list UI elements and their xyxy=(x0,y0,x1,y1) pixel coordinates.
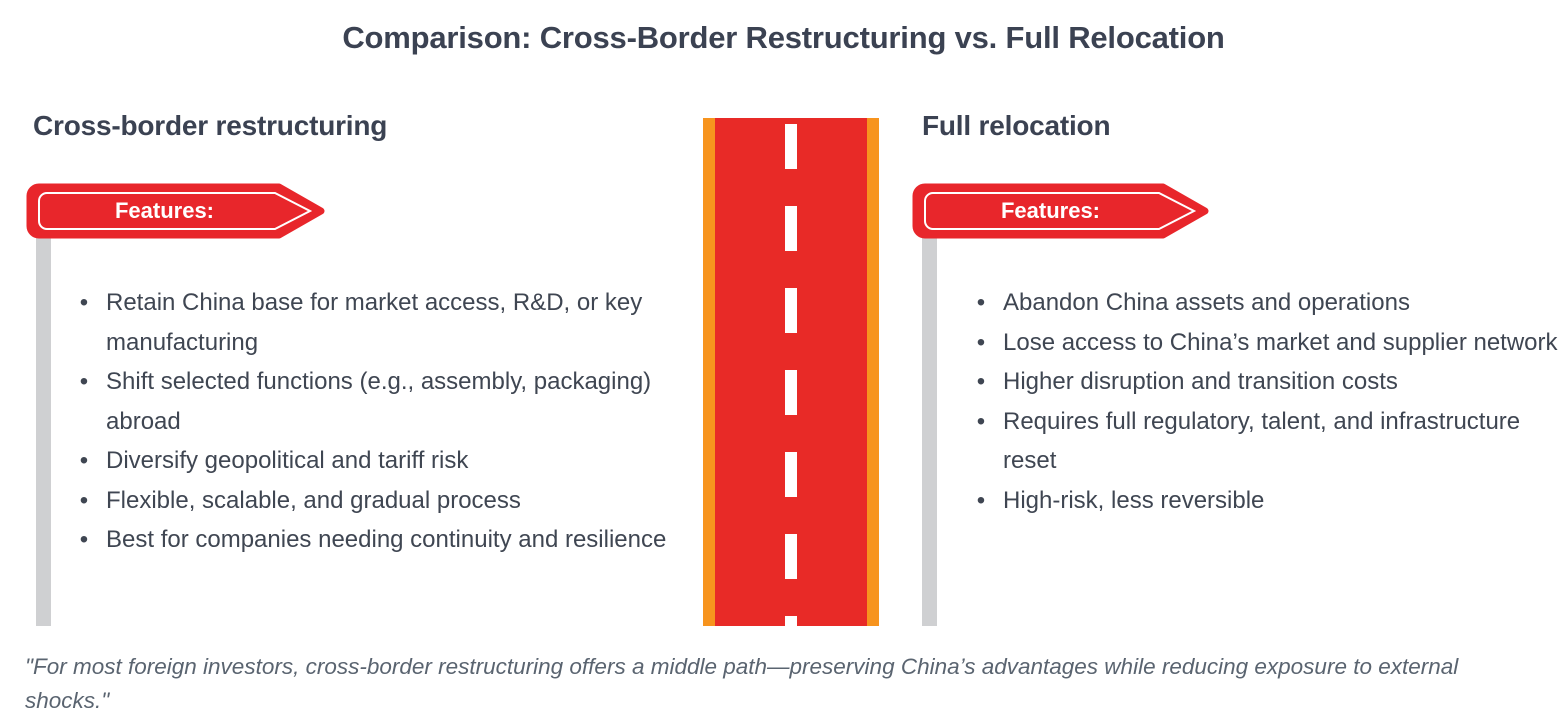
bullet-dot-icon: • xyxy=(973,362,989,402)
bullet-dot-icon: • xyxy=(76,441,92,481)
road-center-line xyxy=(785,118,797,626)
bullet-dot-icon: • xyxy=(973,481,989,521)
list-item: • Requires full regulatory, talent, and … xyxy=(965,402,1560,481)
column-heading-left: Cross-border restructuring xyxy=(33,110,387,142)
road-dash xyxy=(785,206,797,251)
bullet-dot-icon: • xyxy=(973,402,989,442)
list-item-text: Higher disruption and transition costs xyxy=(1003,368,1398,395)
bullet-dot-icon: • xyxy=(76,481,92,521)
road-dash xyxy=(785,288,797,333)
road-shoulder-right xyxy=(867,118,879,626)
arrow-banner-shape-icon xyxy=(27,181,327,241)
road-shoulder-left xyxy=(703,118,715,626)
bullet-dot-icon: • xyxy=(76,520,92,560)
list-item: • Diversify geopolitical and tariff risk xyxy=(68,441,693,481)
features-banner-right: Features: xyxy=(913,181,1211,241)
road-dash xyxy=(785,370,797,415)
list-item-text: Abandon China assets and operations xyxy=(1003,289,1410,316)
list-item-text: Best for companies needing continuity an… xyxy=(106,526,666,553)
list-item: • High-risk, less reversible xyxy=(965,481,1560,521)
list-item-text: Lose access to China’s market and suppli… xyxy=(1003,329,1558,356)
footer-quote: "For most foreign investors, cross-borde… xyxy=(25,650,1495,718)
bullet-dot-icon: • xyxy=(973,323,989,363)
column-heading-right: Full relocation xyxy=(922,110,1110,142)
road-dash xyxy=(785,452,797,497)
bullet-dot-icon: • xyxy=(973,283,989,323)
bullet-dot-icon: • xyxy=(76,283,92,323)
list-item-text: High-risk, less reversible xyxy=(1003,487,1264,514)
road-divider-graphic xyxy=(703,118,879,626)
list-item-text: Flexible, scalable, and gradual process xyxy=(106,487,521,514)
sign-pole-left xyxy=(36,236,51,626)
list-item: • Lose access to China’s market and supp… xyxy=(965,323,1560,363)
list-item: • Flexible, scalable, and gradual proces… xyxy=(68,481,693,521)
list-item-text: Diversify geopolitical and tariff risk xyxy=(106,447,468,474)
list-item-text: Retain China base for market access, R&D… xyxy=(106,289,642,356)
road-dash xyxy=(785,534,797,579)
list-item-text: Requires full regulatory, talent, and in… xyxy=(1003,408,1520,475)
list-item-text: Shift selected functions (e.g., assembly… xyxy=(106,368,651,435)
list-item: • Higher disruption and transition costs xyxy=(965,362,1560,402)
list-item: • Abandon China assets and operations xyxy=(965,283,1560,323)
bullet-list-right: • Abandon China assets and operations • … xyxy=(965,283,1560,520)
sign-pole-right xyxy=(922,236,937,626)
arrow-banner-shape-icon xyxy=(913,181,1211,241)
list-item: • Shift selected functions (e.g., assemb… xyxy=(68,362,693,441)
bullet-list-left: • Retain China base for market access, R… xyxy=(68,283,693,560)
list-item: • Retain China base for market access, R… xyxy=(68,283,693,362)
features-banner-left: Features: xyxy=(27,181,327,241)
page-title: Comparison: Cross-Border Restructuring v… xyxy=(0,20,1567,56)
road-dash xyxy=(785,124,797,169)
list-item: • Best for companies needing continuity … xyxy=(68,520,693,560)
bullet-dot-icon: • xyxy=(76,362,92,402)
